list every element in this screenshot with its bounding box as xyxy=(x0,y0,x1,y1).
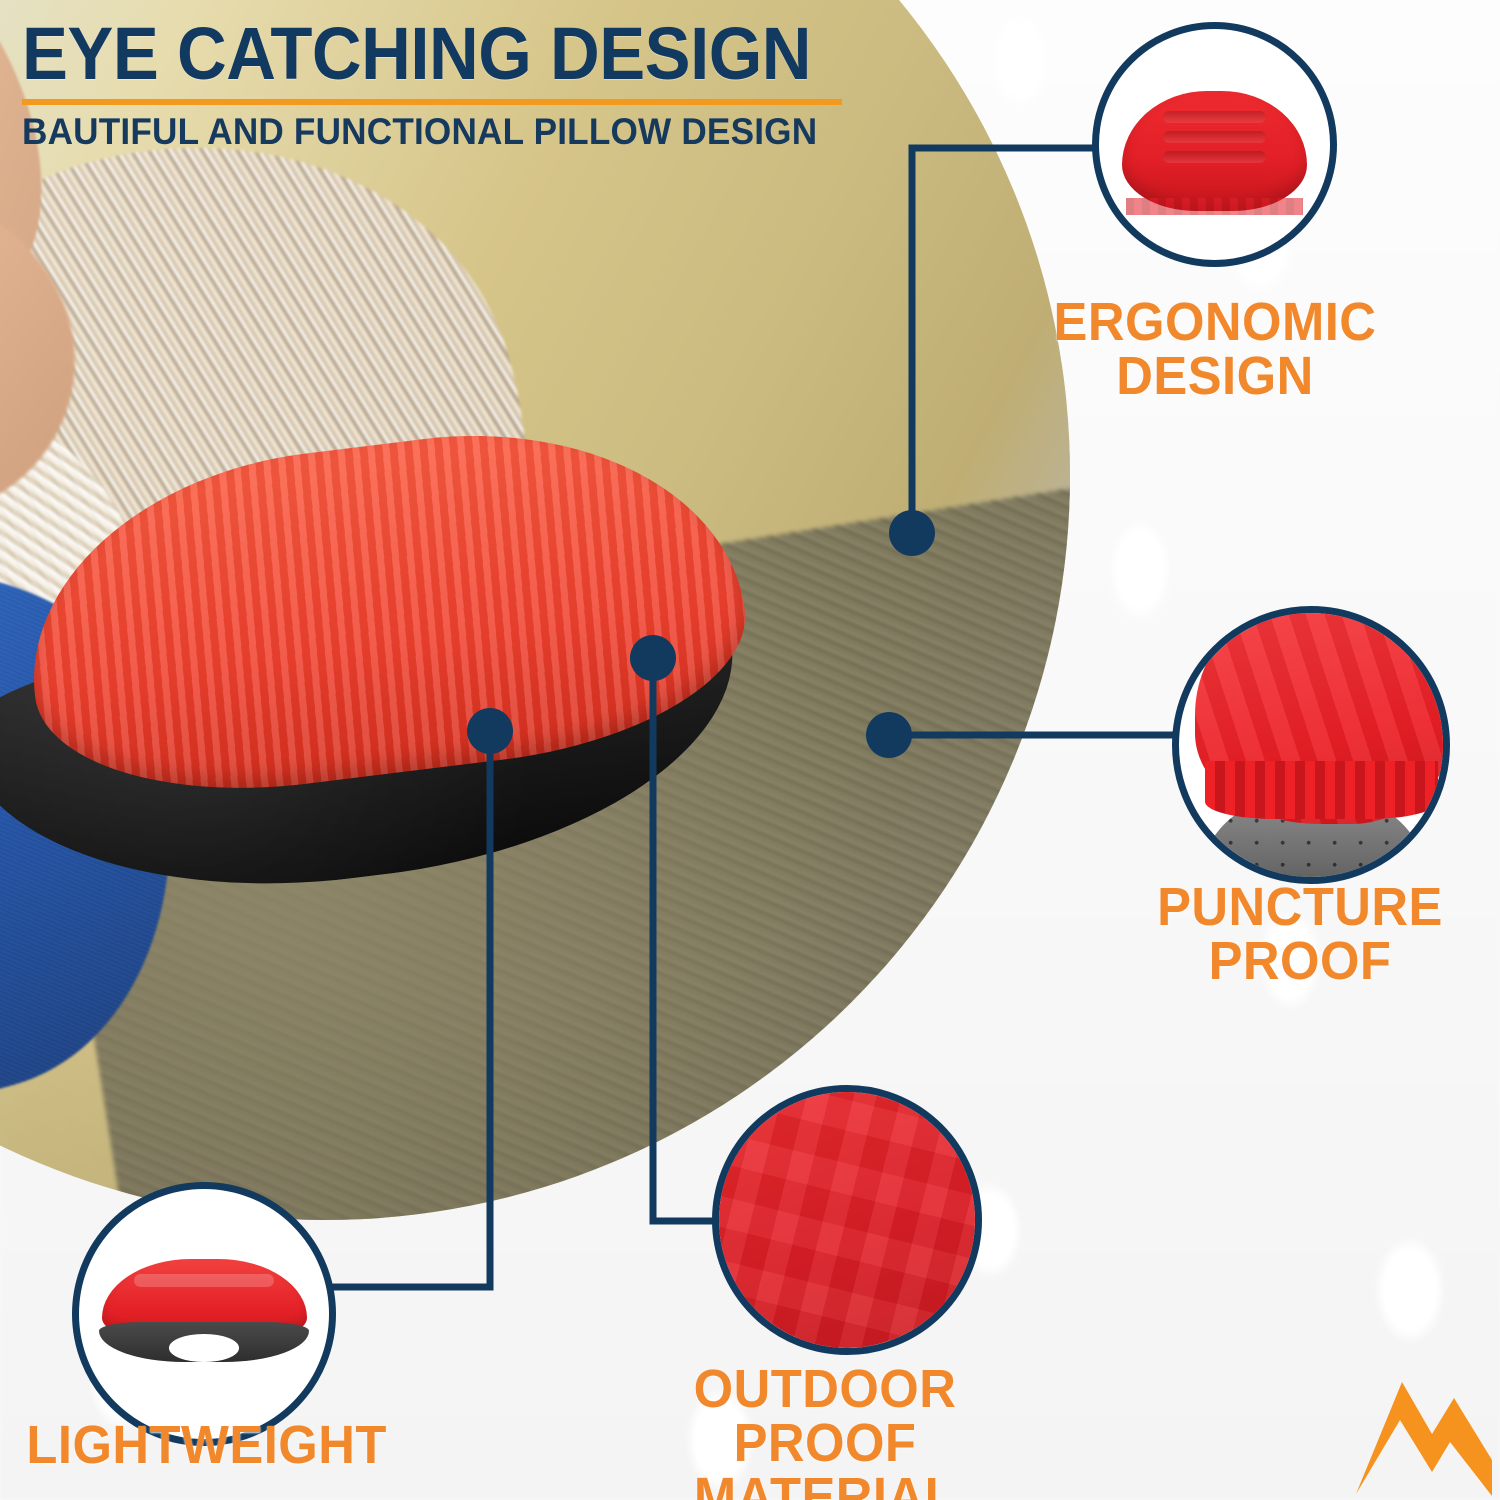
label-line-2: MATERIAL xyxy=(599,1470,1050,1500)
label-line-1: ERGONOMIC xyxy=(1022,295,1407,349)
label-line-2: PROOF xyxy=(1107,934,1492,988)
mountain-peaks-logo xyxy=(1354,1368,1494,1498)
callout-circle-outdoor[interactable] xyxy=(712,1085,982,1355)
callout-label-puncture: PUNCTURE PROOF xyxy=(1107,880,1492,988)
pillow-fabric-fringe xyxy=(1205,761,1437,819)
label-line-1: PUNCTURE xyxy=(1107,880,1492,934)
callout-circle-lightweight[interactable] xyxy=(72,1182,336,1446)
pillow-top-view-image xyxy=(1122,91,1307,211)
red-fabric-texture-image xyxy=(714,1087,980,1353)
callout-label-lightweight: LIGHTWEIGHT xyxy=(26,1418,383,1472)
hero-lifestyle-photo xyxy=(0,0,1070,1220)
label-line-1: LIGHTWEIGHT xyxy=(26,1418,383,1472)
header-block: EYE CATCHING DESIGN BAUTIFUL AND FUNCTIO… xyxy=(22,18,862,150)
infographic-canvas: EYE CATCHING DESIGN BAUTIFUL AND FUNCTIO… xyxy=(0,0,1500,1500)
title-underline-rule xyxy=(22,99,842,105)
page-title: EYE CATCHING DESIGN xyxy=(22,18,803,91)
pillow-crease xyxy=(134,1274,274,1287)
callout-circle-puncture[interactable] xyxy=(1172,606,1450,884)
label-line-2: DESIGN xyxy=(1022,349,1407,403)
hero-vignette xyxy=(0,0,1070,1220)
label-line-1: OUTDOOR PROOF xyxy=(599,1362,1050,1470)
pillow-underside-notch xyxy=(169,1334,239,1362)
callout-label-ergonomic: ERGONOMIC DESIGN xyxy=(1022,295,1407,403)
callout-circle-ergonomic[interactable] xyxy=(1092,22,1337,267)
callout-label-outdoor: OUTDOOR PROOF MATERIAL xyxy=(599,1362,1050,1500)
page-subtitle: BAUTIFUL AND FUNCTIONAL PILLOW DESIGN xyxy=(22,113,820,150)
